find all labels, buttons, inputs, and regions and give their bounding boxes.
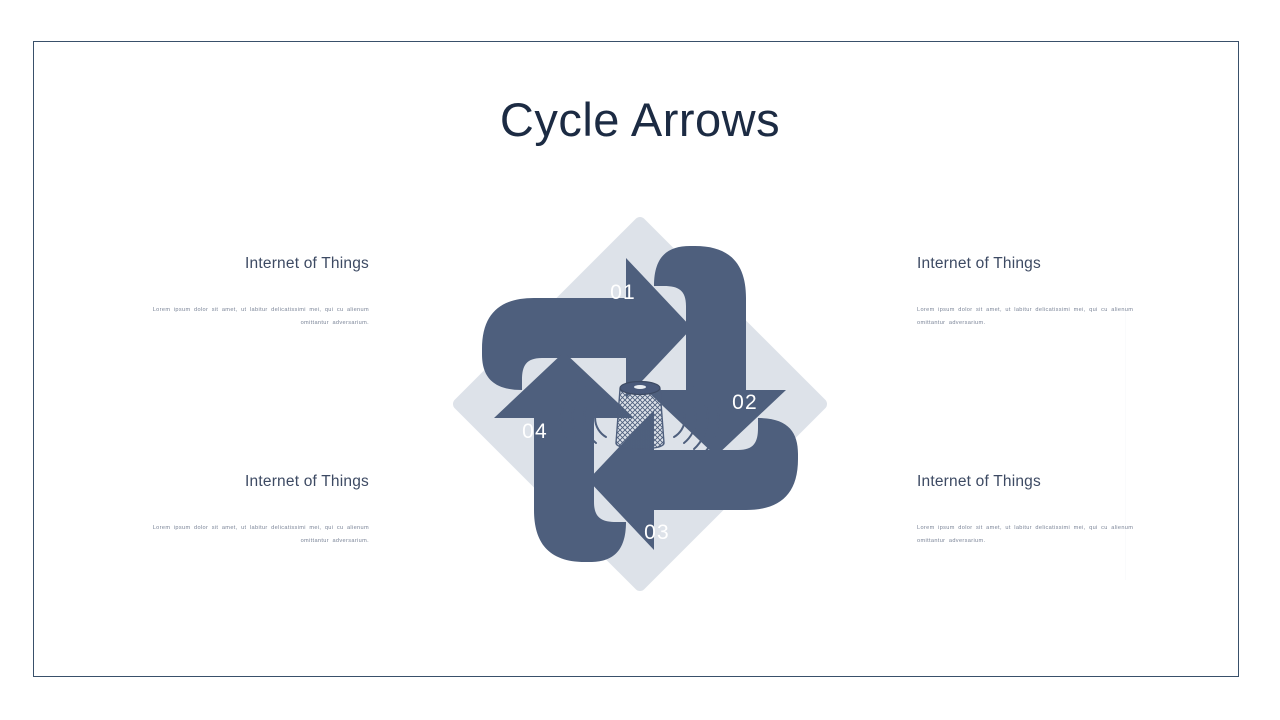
text-block-body: Lorem ipsum dolor sit amet, ut labitur d… xyxy=(917,522,1149,549)
arrow-02-number: 02 xyxy=(732,391,758,414)
text-block-bottom-right: Internet of Things Lorem ipsum dolor sit… xyxy=(917,473,1149,548)
text-block-body: Lorem ipsum dolor sit amet, ut labitur d… xyxy=(917,304,1149,331)
arrow-04-number: 04 xyxy=(522,420,548,443)
page-title: Cycle Arrows xyxy=(0,92,1280,147)
text-block-heading: Internet of Things xyxy=(137,473,369,492)
arrow-01-number: 01 xyxy=(610,281,636,304)
speaker-top-light xyxy=(634,385,646,389)
text-block-heading: Internet of Things xyxy=(917,473,1149,492)
text-block-body: Lorem ipsum dolor sit amet, ut labitur d… xyxy=(137,522,369,549)
slide: Cycle Arrows Internet of Things Lorem ip… xyxy=(0,0,1280,720)
text-block-body: Lorem ipsum dolor sit amet, ut labitur d… xyxy=(137,304,369,331)
arrow-03-number: 03 xyxy=(644,521,670,544)
text-block-heading: Internet of Things xyxy=(137,255,369,274)
text-block-bottom-left: Internet of Things Lorem ipsum dolor sit… xyxy=(137,473,369,548)
cycle-diagram-svg: 01 02 03 04 xyxy=(430,194,850,614)
text-block-top-right: Internet of Things Lorem ipsum dolor sit… xyxy=(917,255,1149,330)
cycle-arrows-diagram: 01 02 03 04 xyxy=(430,194,850,614)
text-block-top-left: Internet of Things Lorem ipsum dolor sit… xyxy=(137,255,369,330)
text-block-heading: Internet of Things xyxy=(917,255,1149,274)
